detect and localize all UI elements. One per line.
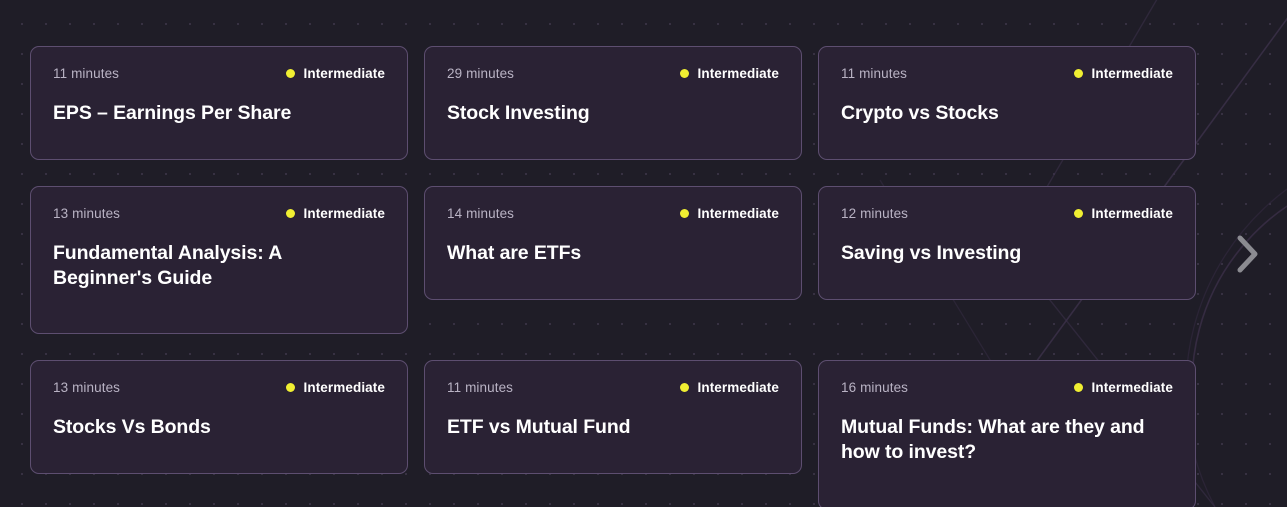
difficulty-badge: Intermediate bbox=[680, 381, 779, 395]
difficulty-label: Intermediate bbox=[1092, 67, 1173, 81]
card-meta: 11 minutes Intermediate bbox=[53, 67, 385, 81]
difficulty-badge: Intermediate bbox=[286, 207, 385, 221]
difficulty-dot-icon bbox=[680, 383, 689, 392]
difficulty-badge: Intermediate bbox=[680, 67, 779, 81]
difficulty-dot-icon bbox=[680, 209, 689, 218]
card-row: 11 minutes Intermediate EPS – Earnings P… bbox=[30, 46, 1196, 160]
carousel-next-button[interactable] bbox=[1226, 232, 1270, 276]
card-meta: 12 minutes Intermediate bbox=[841, 207, 1173, 221]
course-duration: 11 minutes bbox=[53, 67, 119, 81]
card-meta: 16 minutes Intermediate bbox=[841, 381, 1173, 395]
card-meta: 11 minutes Intermediate bbox=[447, 381, 779, 395]
course-duration: 12 minutes bbox=[841, 207, 908, 221]
difficulty-label: Intermediate bbox=[698, 207, 779, 221]
difficulty-dot-icon bbox=[1074, 69, 1083, 78]
difficulty-badge: Intermediate bbox=[286, 67, 385, 81]
card-row: 13 minutes Intermediate Fundamental Anal… bbox=[30, 186, 1196, 334]
difficulty-badge: Intermediate bbox=[1074, 381, 1173, 395]
course-carousel-page: 11 minutes Intermediate EPS – Earnings P… bbox=[0, 0, 1287, 507]
difficulty-label: Intermediate bbox=[304, 381, 385, 395]
course-duration: 29 minutes bbox=[447, 67, 514, 81]
difficulty-dot-icon bbox=[1074, 209, 1083, 218]
difficulty-badge: Intermediate bbox=[1074, 207, 1173, 221]
course-title: Crypto vs Stocks bbox=[841, 101, 1173, 127]
course-title: Stock Investing bbox=[447, 101, 779, 127]
course-duration: 11 minutes bbox=[841, 67, 907, 81]
card-meta: 11 minutes Intermediate bbox=[841, 67, 1173, 81]
difficulty-label: Intermediate bbox=[698, 67, 779, 81]
course-card[interactable]: 11 minutes Intermediate Crypto vs Stocks bbox=[818, 46, 1196, 160]
course-title: Saving vs Investing bbox=[841, 241, 1173, 267]
course-title: What are ETFs bbox=[447, 241, 779, 267]
course-card[interactable]: 12 minutes Intermediate Saving vs Invest… bbox=[818, 186, 1196, 300]
difficulty-badge: Intermediate bbox=[680, 207, 779, 221]
difficulty-dot-icon bbox=[286, 383, 295, 392]
course-duration: 13 minutes bbox=[53, 381, 120, 395]
course-title: Mutual Funds: What are they and how to i… bbox=[841, 415, 1173, 466]
card-row: 13 minutes Intermediate Stocks Vs Bonds … bbox=[30, 360, 1196, 507]
course-duration: 16 minutes bbox=[841, 381, 908, 395]
difficulty-label: Intermediate bbox=[1092, 381, 1173, 395]
course-card[interactable]: 11 minutes Intermediate ETF vs Mutual Fu… bbox=[424, 360, 802, 474]
course-duration: 11 minutes bbox=[447, 381, 513, 395]
course-title: Fundamental Analysis: A Beginner's Guide bbox=[53, 241, 385, 292]
difficulty-dot-icon bbox=[680, 69, 689, 78]
course-card[interactable]: 13 minutes Intermediate Stocks Vs Bonds bbox=[30, 360, 408, 474]
difficulty-dot-icon bbox=[286, 209, 295, 218]
course-duration: 13 minutes bbox=[53, 207, 120, 221]
course-card[interactable]: 29 minutes Intermediate Stock Investing bbox=[424, 46, 802, 160]
difficulty-label: Intermediate bbox=[304, 67, 385, 81]
course-title: Stocks Vs Bonds bbox=[53, 415, 385, 441]
course-card[interactable]: 11 minutes Intermediate EPS – Earnings P… bbox=[30, 46, 408, 160]
course-card[interactable]: 13 minutes Intermediate Fundamental Anal… bbox=[30, 186, 408, 334]
difficulty-label: Intermediate bbox=[304, 207, 385, 221]
chevron-right-icon bbox=[1235, 234, 1261, 274]
course-title: EPS – Earnings Per Share bbox=[53, 101, 385, 127]
course-card[interactable]: 14 minutes Intermediate What are ETFs bbox=[424, 186, 802, 300]
card-meta: 14 minutes Intermediate bbox=[447, 207, 779, 221]
difficulty-label: Intermediate bbox=[1092, 207, 1173, 221]
difficulty-label: Intermediate bbox=[698, 381, 779, 395]
difficulty-badge: Intermediate bbox=[286, 381, 385, 395]
course-title: ETF vs Mutual Fund bbox=[447, 415, 779, 441]
course-card-grid: 11 minutes Intermediate EPS – Earnings P… bbox=[30, 46, 1196, 507]
card-meta: 13 minutes Intermediate bbox=[53, 381, 385, 395]
card-meta: 29 minutes Intermediate bbox=[447, 67, 779, 81]
course-duration: 14 minutes bbox=[447, 207, 514, 221]
card-meta: 13 minutes Intermediate bbox=[53, 207, 385, 221]
difficulty-dot-icon bbox=[286, 69, 295, 78]
difficulty-badge: Intermediate bbox=[1074, 67, 1173, 81]
course-card[interactable]: 16 minutes Intermediate Mutual Funds: Wh… bbox=[818, 360, 1196, 507]
difficulty-dot-icon bbox=[1074, 383, 1083, 392]
